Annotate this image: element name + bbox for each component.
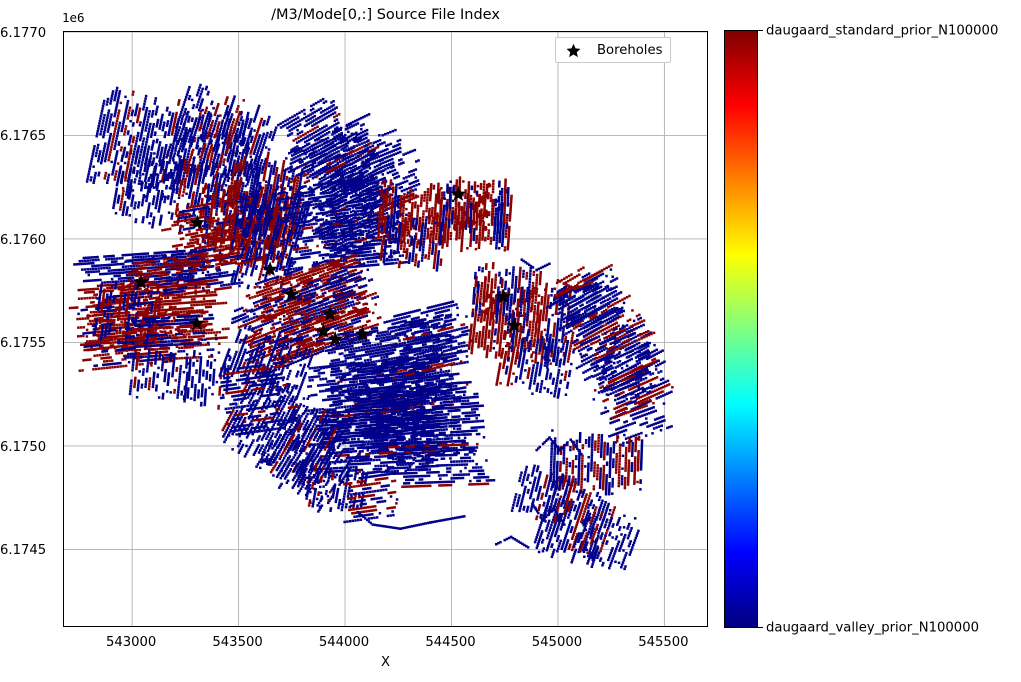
colorbar-bottom-label: daugaard_valley_prior_N100000 — [766, 621, 979, 636]
colorbar-gradient — [724, 30, 758, 628]
y-tick-label: 6.1750 — [0, 440, 53, 455]
page-title: /M3/Mode[0,:] Source File Index — [63, 7, 708, 23]
x-tick-label: 544500 — [425, 635, 475, 650]
legend[interactable]: Boreholes — [555, 37, 671, 63]
x-axis-label: X — [63, 655, 708, 670]
x-tick-label: 543000 — [106, 635, 156, 650]
figure-canvas: /M3/Mode[0,:] Source File Index 1e6 6.17… — [0, 0, 1021, 682]
legend-label: Boreholes — [597, 43, 662, 58]
colorbar-tick-top — [758, 30, 763, 31]
scatter-plot-svg — [64, 32, 707, 626]
x-tick-label: 545000 — [532, 635, 582, 650]
y-tick-label: 6.1755 — [0, 336, 53, 351]
plot-area[interactable] — [63, 31, 708, 627]
x-tick-label: 543500 — [212, 635, 262, 650]
data-points-layer — [69, 84, 674, 570]
y-axis-tick-labels: 6.17456.17506.17556.17606.17656.1770 — [0, 31, 56, 627]
x-axis-tick-labels: 543000543500544000544500545000545500 — [63, 631, 708, 653]
y-axis-offset-text: 1e6 — [62, 10, 85, 25]
x-tick-label: 544000 — [319, 635, 369, 650]
colorbar-tick-bottom — [758, 627, 763, 628]
colorbar-top-label: daugaard_standard_prior_N100000 — [766, 24, 998, 39]
y-tick-label: 6.1760 — [0, 233, 53, 248]
y-tick-label: 6.1745 — [0, 543, 53, 558]
x-tick-label: 545500 — [638, 635, 688, 650]
star-icon — [562, 43, 584, 58]
y-tick-label: 6.1770 — [0, 26, 53, 41]
colorbar[interactable]: daugaard_standard_prior_N100000 daugaard… — [724, 30, 758, 628]
y-tick-label: 6.1765 — [0, 129, 53, 144]
